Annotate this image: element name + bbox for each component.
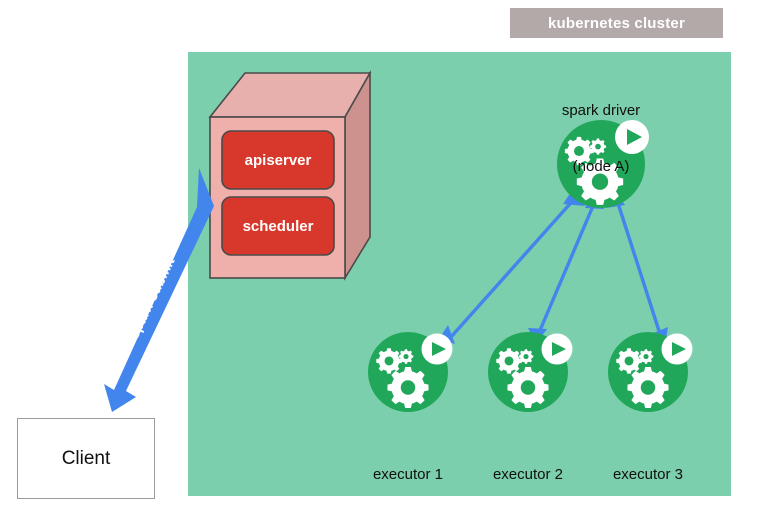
gear-icon-large xyxy=(508,367,549,408)
gear-icon-large xyxy=(628,367,669,408)
gear-icon-small xyxy=(519,349,534,364)
executor-2-node[interactable] xyxy=(488,332,573,412)
connector-line-3 xyxy=(616,197,661,337)
executor-3-node[interactable] xyxy=(608,332,693,412)
executor-3-label: executor 3 (node B) xyxy=(578,428,718,516)
control-plane-cube: apiserver scheduler xyxy=(210,73,370,278)
gear-icon-medium xyxy=(616,348,641,373)
scheduler-label: scheduler xyxy=(243,218,314,235)
gear-icon-medium xyxy=(496,348,521,373)
gear-icon-medium xyxy=(376,348,401,373)
executor-1-label: executor 1 (node A) xyxy=(338,428,478,516)
apiserver-block[interactable]: apiserver xyxy=(222,131,334,189)
cube-top-face xyxy=(210,73,370,117)
executor-1-node[interactable] xyxy=(368,332,453,412)
apiserver-label: apiserver xyxy=(245,152,312,169)
executor-3-title: executor 3 xyxy=(578,466,718,485)
spark-driver-label: spark driver (node A) xyxy=(531,64,671,214)
spark-driver-title: spark driver xyxy=(531,102,671,121)
spark-driver-subtitle: (node A) xyxy=(531,158,671,177)
spark-submit-arrow[interactable]: spark-submit xyxy=(104,168,214,412)
scheduler-block[interactable]: scheduler xyxy=(222,197,334,255)
connector-line-1 xyxy=(451,196,577,337)
gear-icon-small xyxy=(639,349,654,364)
executor-2-title: executor 2 xyxy=(458,466,598,485)
gear-icon-small xyxy=(399,349,414,364)
connector-line-2 xyxy=(538,199,596,335)
executor-1-title: executor 1 xyxy=(338,466,478,485)
diagram-canvas: kubernetes cluster Client ap xyxy=(0,0,761,516)
gear-icon-large xyxy=(388,367,429,408)
executor-2-label: executor 2 (node B) xyxy=(458,428,598,516)
